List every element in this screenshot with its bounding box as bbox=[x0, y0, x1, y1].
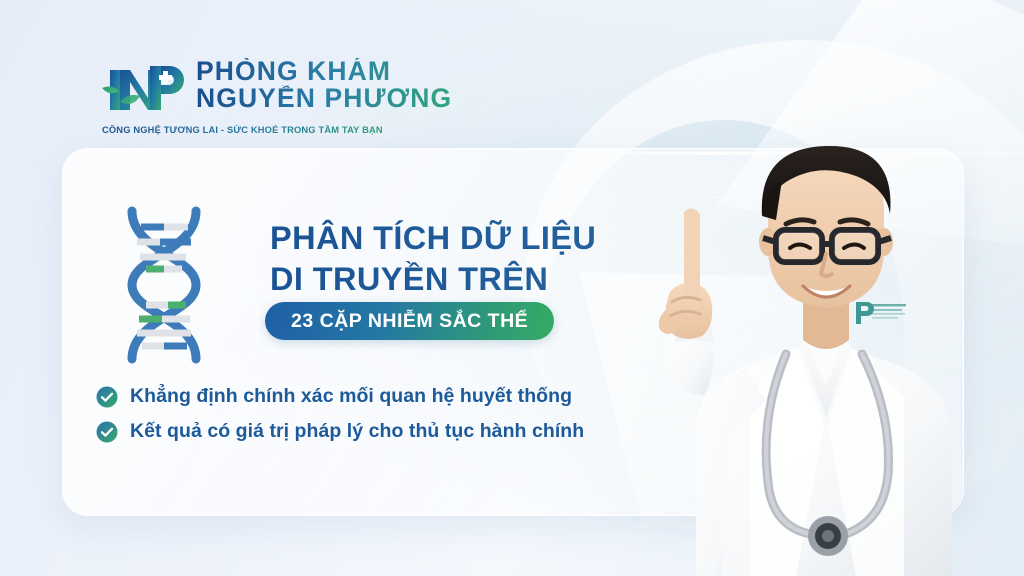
np-clinic-embroidered-logo bbox=[856, 302, 906, 324]
benefit-list: Khẳng định chính xác mối quan hệ huyết t… bbox=[96, 385, 584, 443]
list-item: Kết quả có giá trị pháp lý cho thủ tục h… bbox=[96, 420, 584, 443]
benefit-text: Kết quả có giá trị pháp lý cho thủ tục h… bbox=[130, 420, 584, 443]
check-circle-icon bbox=[96, 421, 118, 443]
benefit-text: Khẳng định chính xác mối quan hệ huyết t… bbox=[130, 385, 572, 408]
dna-double-helix-illustration bbox=[112, 205, 216, 365]
logo-row: PHÒNG KHÁM NGUYỄN PHƯƠNG bbox=[100, 52, 452, 118]
badge-label: 23 CẶP NHIỄM SẮC THỂ bbox=[291, 310, 528, 333]
logo-name-line2: NGUYỄN PHƯƠNG bbox=[196, 85, 452, 112]
check-circle-icon bbox=[96, 386, 118, 408]
promo-banner: PHÒNG KHÁM NGUYỄN PHƯƠNG CÔNG NGHỆ TƯƠNG… bbox=[0, 0, 1024, 576]
logo-tagline: CÔNG NGHỆ TƯƠNG LAI - SỨC KHOẺ TRONG TẦM… bbox=[102, 125, 383, 135]
doctor-photo bbox=[600, 96, 1000, 576]
logo-wordmark: PHÒNG KHÁM NGUYỄN PHƯƠNG bbox=[196, 58, 452, 113]
clinic-logo: PHÒNG KHÁM NGUYỄN PHƯƠNG CÔNG NGHỆ TƯƠNG… bbox=[100, 52, 452, 135]
np-monogram-logo-icon bbox=[100, 52, 186, 118]
list-item: Khẳng định chính xác mối quan hệ huyết t… bbox=[96, 385, 584, 408]
logo-name-line1: PHÒNG KHÁM bbox=[196, 58, 452, 85]
chromosome-count-badge: 23 CẶP NHIỄM SẮC THỂ bbox=[265, 302, 554, 340]
